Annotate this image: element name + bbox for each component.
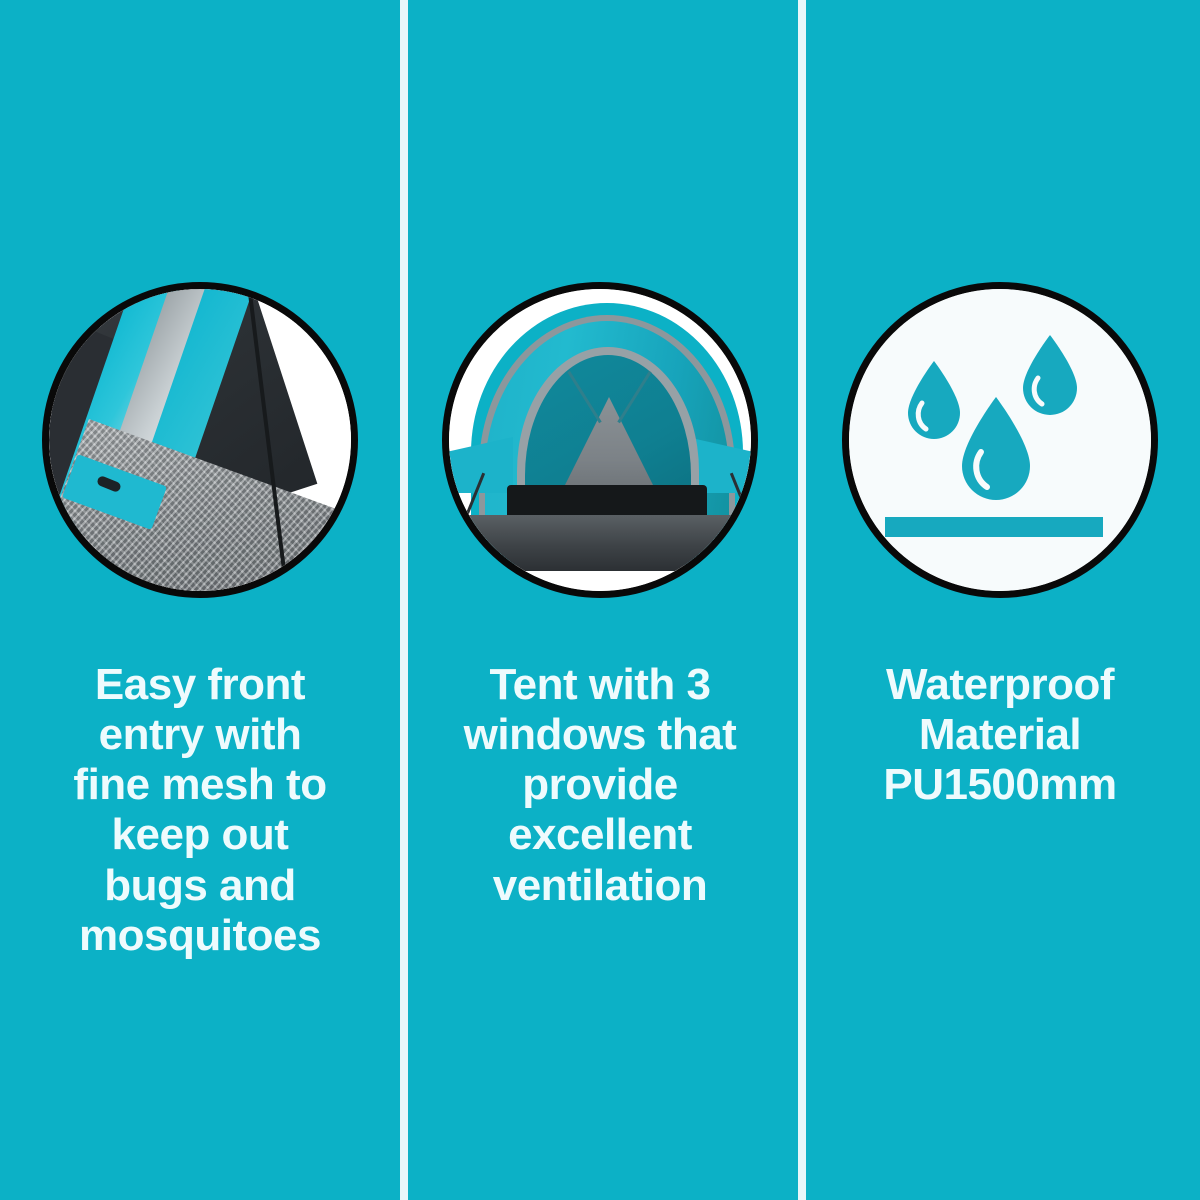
badge-ventilation [442, 282, 758, 598]
caption-waterproof: Waterproof Material PU1500mm [800, 660, 1200, 810]
water-drop-center-icon [956, 394, 1036, 504]
panel-divider-2 [798, 0, 806, 1200]
waterproof-illustration [849, 289, 1151, 591]
caption-ventilation: Tent with 3 windows that provide excelle… [400, 660, 800, 911]
feature-panel-board: Easy front entry with fine mesh to keep … [0, 0, 1200, 1200]
water-surface-bar-icon [885, 517, 1103, 537]
photo-vestibule-left [449, 437, 513, 493]
badge-front-entry [42, 282, 358, 598]
photo-groundsheet [467, 515, 749, 571]
panel-waterproof: Waterproof Material PU1500mm [800, 0, 1200, 1200]
badge-waterproof [842, 282, 1158, 598]
photo-dome-tent [449, 289, 751, 591]
caption-front-entry: Easy front entry with fine mesh to keep … [0, 660, 400, 961]
panel-ventilation: Tent with 3 windows that provide excelle… [400, 0, 800, 1200]
water-droplets-icon [849, 289, 1151, 591]
dome-tent-photo [449, 289, 751, 591]
photo-tent-corner [49, 289, 351, 591]
panel-front-entry: Easy front entry with fine mesh to keep … [0, 0, 400, 1200]
tent-corner-mesh-photo [49, 289, 351, 591]
panel-divider-1 [400, 0, 408, 1200]
water-drop-left-icon [904, 359, 964, 441]
